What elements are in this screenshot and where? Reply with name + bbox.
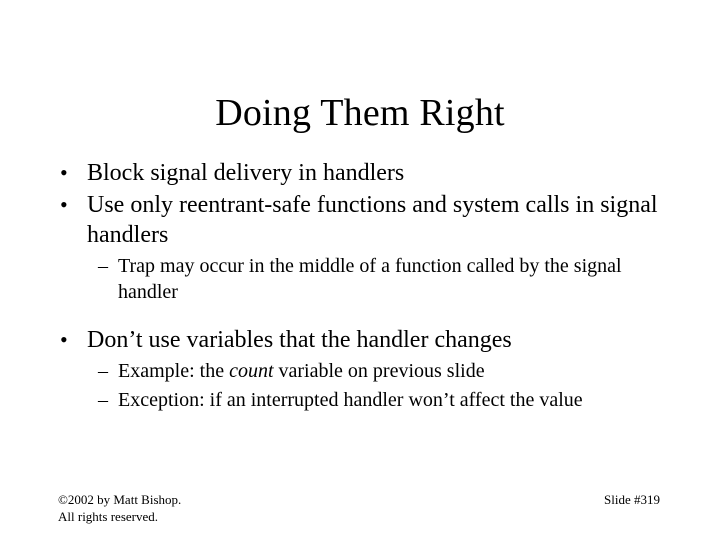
bullet-icon: • — [60, 325, 68, 355]
sub-list-item: – Exception: if an interrupted handler w… — [58, 387, 658, 413]
page-title: Doing Them Right — [0, 91, 720, 135]
list-item: • Block signal delivery in handlers — [58, 158, 658, 188]
sub-list-item-label: Trap may occur in the middle of a functi… — [118, 253, 658, 305]
copyright-block: ©2002 by Matt Bishop. All rights reserve… — [58, 491, 181, 525]
dash-icon: – — [98, 387, 108, 413]
bullet-icon: • — [60, 190, 68, 220]
bullet-icon: • — [60, 158, 68, 188]
slide-body: • Block signal delivery in handlers • Us… — [58, 158, 658, 414]
presentation-slide: Doing Them Right • Block signal delivery… — [0, 0, 720, 540]
list-item-label: Block signal delivery in handlers — [87, 158, 658, 188]
dash-icon: – — [98, 358, 108, 384]
list-item: • Don’t use variables that the handler c… — [58, 325, 658, 355]
list-item-label: Don’t use variables that the handler cha… — [87, 325, 658, 355]
sub-list-item: – Trap may occur in the middle of a func… — [58, 253, 658, 305]
slide-number: Slide #319 — [604, 491, 660, 508]
list-item-label: Use only reentrant-safe functions and sy… — [87, 190, 658, 250]
sub-list-item-text-after-emphasis: variable on previous slide — [274, 360, 485, 382]
sub-list-item-text-before-emphasis: Example: the — [118, 360, 229, 382]
dash-icon: – — [98, 253, 108, 279]
list-item: • Use only reentrant-safe functions and … — [58, 190, 658, 250]
sub-list-item-label: Exception: if an interrupted handler won… — [118, 387, 658, 413]
copyright-line-2: All rights reserved. — [58, 508, 181, 525]
sub-list-item-label: Example: the count variable on previous … — [118, 358, 658, 384]
copyright-line-1: ©2002 by Matt Bishop. — [58, 491, 181, 508]
emphasized-variable-name: count — [229, 360, 273, 382]
sub-list-item: – Example: the count variable on previou… — [58, 358, 658, 384]
